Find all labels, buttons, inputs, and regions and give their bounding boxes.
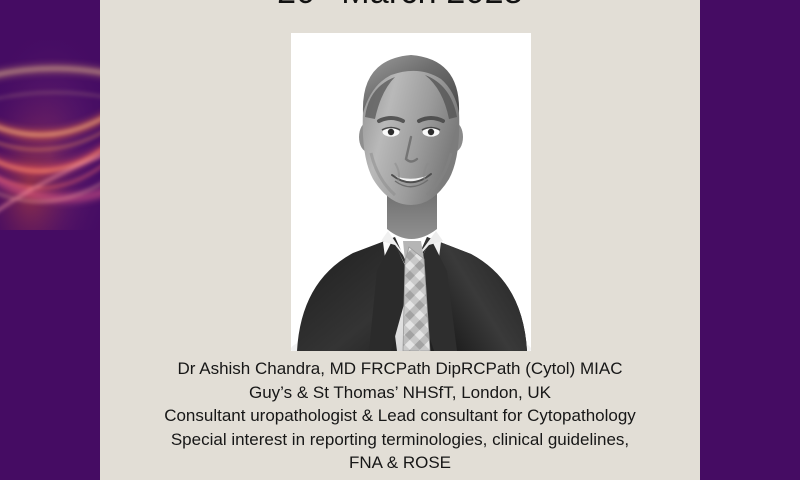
- right-purple-band: [700, 0, 800, 480]
- caption-line-interests-2: FNA & ROSE: [100, 451, 700, 475]
- speaker-portrait-photo: [291, 33, 531, 351]
- presentation-slide: 20th March 2028: [0, 0, 800, 480]
- speaker-caption: Dr Ashish Chandra, MD FRCPath DipRCPath …: [100, 357, 700, 475]
- slide-date: 20th March 2028: [100, 0, 700, 12]
- caption-line-institution: Guy’s & St Thomas’ NHSfT, London, UK: [100, 381, 700, 405]
- caption-line-role: Consultant uropathologist & Lead consult…: [100, 404, 700, 428]
- glowing-lines-decoration: [0, 40, 100, 230]
- caption-line-name: Dr Ashish Chandra, MD FRCPath DipRCPath …: [100, 357, 700, 381]
- slide-content-area: 20th March 2028: [100, 0, 700, 480]
- left-purple-band: [0, 0, 100, 480]
- caption-line-interests-1: Special interest in reporting terminolog…: [100, 428, 700, 452]
- date-month-year: March 2028: [332, 0, 523, 11]
- date-day: 20: [277, 0, 315, 11]
